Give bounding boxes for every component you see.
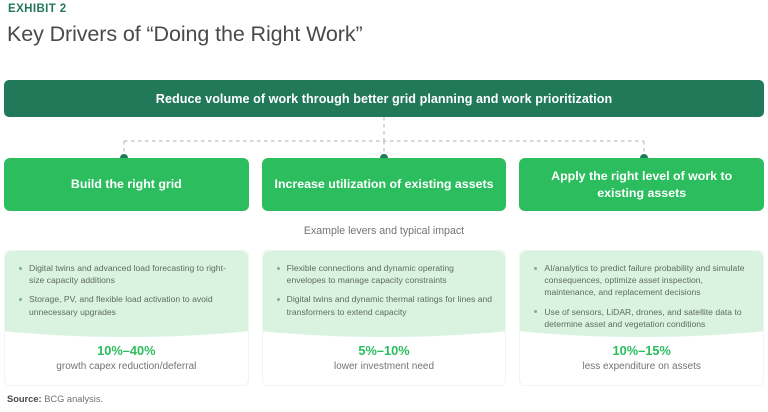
column-heading-banner[interactable]: Apply the right level of work to existin… xyxy=(519,158,764,211)
impact-block: 10%–40% growth capex reduction/deferral xyxy=(5,342,248,373)
list-item: Digital twins and dynamic thermal rating… xyxy=(277,293,494,317)
impact-caption: lower investment need xyxy=(263,360,506,374)
impact-value: 10%–40% xyxy=(5,342,248,359)
bullet-dot-icon xyxy=(19,298,22,301)
list-item: Use of sensors, LiDAR, drones, and satel… xyxy=(534,306,751,330)
list-item-text: Storage, PV, and flexible load activatio… xyxy=(29,294,213,316)
driver-column: Apply the right level of work to existin… xyxy=(519,158,764,386)
example-levers-label: Example levers and typical impact xyxy=(0,225,768,237)
column-heading-banner[interactable]: Build the right grid xyxy=(4,158,249,211)
list-item: Digital twins and advanced load forecast… xyxy=(19,262,236,286)
bullet-dot-icon xyxy=(19,267,22,270)
exhibit-page: EXHIBIT 2 Key Drivers of “Doing the Righ… xyxy=(0,0,768,412)
column-heading-text: Increase utilization of existing assets xyxy=(275,176,494,192)
connector-lines xyxy=(0,116,768,162)
impact-value: 10%–15% xyxy=(520,342,763,359)
column-card: AI/analytics to predict failure probabil… xyxy=(519,250,764,386)
bullet-dot-icon xyxy=(277,298,280,301)
bullet-dot-icon xyxy=(277,267,280,270)
driver-column: Increase utilization of existing assets … xyxy=(262,158,507,386)
column-heading-text: Apply the right level of work to existin… xyxy=(529,168,754,201)
bullet-list: AI/analytics to predict failure probabil… xyxy=(520,251,763,330)
impact-caption: growth capex reduction/deferral xyxy=(5,360,248,374)
column-card: Flexible connections and dynamic operati… xyxy=(262,250,507,386)
column-card: Digital twins and advanced load forecast… xyxy=(4,250,249,386)
source-text: BCG analysis. xyxy=(42,394,103,404)
impact-caption: less expenditure on assets xyxy=(520,360,763,374)
page-title: Key Drivers of “Doing the Right Work” xyxy=(7,22,363,47)
impact-block: 5%–10% lower investment need xyxy=(263,342,506,373)
bullet-list: Digital twins and advanced load forecast… xyxy=(5,251,248,318)
column-heading-banner[interactable]: Increase utilization of existing assets xyxy=(262,158,507,211)
list-item: Flexible connections and dynamic operati… xyxy=(277,262,494,286)
list-item-text: AI/analytics to predict failure probabil… xyxy=(544,263,744,297)
list-item-text: Digital twins and advanced load forecast… xyxy=(29,263,226,285)
list-item-text: Flexible connections and dynamic operati… xyxy=(287,263,454,285)
bullet-panel: Flexible connections and dynamic operati… xyxy=(263,251,506,337)
list-item: Storage, PV, and flexible load activatio… xyxy=(19,293,236,317)
list-item-text: Digital twins and dynamic thermal rating… xyxy=(287,294,492,316)
bullet-dot-icon xyxy=(534,267,537,270)
impact-value: 5%–10% xyxy=(263,342,506,359)
bullet-list: Flexible connections and dynamic operati… xyxy=(263,251,506,318)
list-item-text: Use of sensors, LiDAR, drones, and satel… xyxy=(544,307,741,329)
exhibit-label: EXHIBIT 2 xyxy=(8,3,67,15)
impact-block: 10%–15% less expenditure on assets xyxy=(520,342,763,373)
bullet-panel: Digital twins and advanced load forecast… xyxy=(5,251,248,337)
driver-column: Build the right grid Digital twins and a… xyxy=(4,158,249,386)
top-banner: Reduce volume of work through better gri… xyxy=(4,80,764,117)
top-banner-text: Reduce volume of work through better gri… xyxy=(156,92,612,106)
source-prefix: Source: xyxy=(7,394,42,404)
list-item: AI/analytics to predict failure probabil… xyxy=(534,262,751,299)
bullet-panel: AI/analytics to predict failure probabil… xyxy=(520,251,763,337)
driver-columns: Build the right grid Digital twins and a… xyxy=(0,158,768,386)
bullet-dot-icon xyxy=(534,310,537,313)
column-heading-text: Build the right grid xyxy=(71,176,182,192)
source-note: Source: BCG analysis. xyxy=(7,394,103,404)
